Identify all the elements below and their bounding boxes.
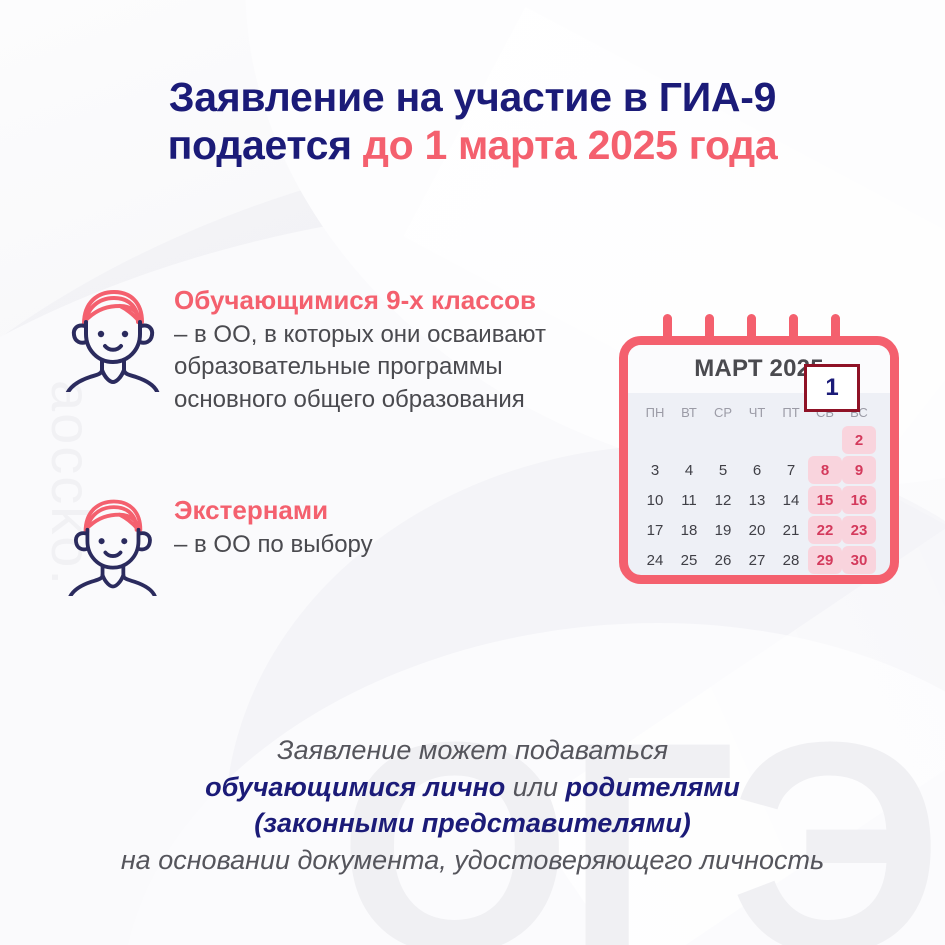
students-body: – в ОО, в которых они осваивают образова… <box>174 319 546 418</box>
footer-line-2-part-a: обучающимися лично <box>205 772 505 802</box>
externs-body-line-1: – в ОО по выбору <box>174 529 373 562</box>
calendar-day-empty <box>842 576 876 584</box>
students-body-line-3: основного общего образования <box>174 384 546 417</box>
calendar-day-26[interactable]: 26 <box>706 546 740 574</box>
calendar-day-empty <box>774 426 808 454</box>
calendar-day-1[interactable]: 1 <box>808 426 842 454</box>
students-heading: Обучающимися 9-х классов <box>174 284 546 317</box>
deadline-day-marker: 1 <box>804 364 860 412</box>
calendar-day-empty <box>706 426 740 454</box>
calendar-day-18[interactable]: 18 <box>672 516 706 544</box>
calendar-day-24[interactable]: 24 <box>638 546 672 574</box>
calendar-day-3[interactable]: 3 <box>638 456 672 484</box>
footer-line-4: на основании документа, удостоверяющего … <box>0 842 945 879</box>
calendar-day-empty <box>672 576 706 584</box>
students-body-line-1: – в ОО, в которых они осваивают <box>174 319 546 352</box>
title-line-2: подается до 1 марта 2025 года <box>0 122 945 170</box>
content-row-students: Обучающимися 9-х классов – в ОО, в котор… <box>64 282 546 417</box>
calendar-day-12[interactable]: 12 <box>706 486 740 514</box>
calendar-day-2[interactable]: 2 <box>842 426 876 454</box>
title-line-1: Заявление на участие в ГИА-9 <box>0 74 945 122</box>
calendar-day-empty <box>774 576 808 584</box>
calendar-day-7[interactable]: 7 <box>774 456 808 484</box>
footer-note: Заявление может подаваться обучающимися … <box>0 732 945 879</box>
student-person-icon <box>64 282 160 392</box>
calendar-weekday-СР: СР <box>706 400 740 424</box>
calendar-day-15[interactable]: 15 <box>808 486 842 514</box>
extern-person-icon <box>64 492 160 596</box>
calendar-day-27[interactable]: 27 <box>740 546 774 574</box>
calendar-week-row: 31 <box>638 575 880 584</box>
calendar-day-29[interactable]: 29 <box>808 546 842 574</box>
calendar-day-11[interactable]: 11 <box>672 486 706 514</box>
students-text-block: Обучающимися 9-х классов – в ОО, в котор… <box>174 282 546 417</box>
footer-line-2-part-c: родителями <box>566 772 740 802</box>
title-line-2-plain: подается <box>168 122 363 168</box>
footer-line-1: Заявление может подаваться <box>0 732 945 769</box>
calendar-week-row: 12 <box>638 425 880 455</box>
students-body-line-2: образовательные программы <box>174 351 546 384</box>
calendar-day-empty <box>808 576 842 584</box>
march-2025-calendar: МАРТ 2025 ПНВТСРЧТПТСБВС1234567891011121… <box>619 336 899 584</box>
calendar-day-13[interactable]: 13 <box>740 486 774 514</box>
calendar-day-28[interactable]: 28 <box>774 546 808 574</box>
calendar-day-30[interactable]: 30 <box>842 546 876 574</box>
footer-line-2-part-b: или <box>505 772 565 802</box>
externs-heading: Экстернами <box>174 494 373 527</box>
calendar-day-23[interactable]: 23 <box>842 516 876 544</box>
title-deadline-accent: до 1 марта 2025 года <box>363 122 778 168</box>
calendar-day-19[interactable]: 19 <box>706 516 740 544</box>
footer-line-3: (законными представителями) <box>0 805 945 842</box>
calendar-grid: ПНВТСРЧТПТСБВС12345678910111213141516171… <box>628 393 890 584</box>
calendar-day-empty <box>740 576 774 584</box>
calendar-day-22[interactable]: 22 <box>808 516 842 544</box>
calendar-weekday-ПН: ПН <box>638 400 672 424</box>
calendar-weekday-ВТ: ВТ <box>672 400 706 424</box>
calendar-day-16[interactable]: 16 <box>842 486 876 514</box>
calendar-day-10[interactable]: 10 <box>638 486 672 514</box>
calendar-week-row: 17181920212223 <box>638 515 880 545</box>
infographic-poster: ОГЭ aoccko. Заявление на участие в ГИА-9… <box>0 0 945 945</box>
calendar-day-21[interactable]: 21 <box>774 516 808 544</box>
calendar-week-row: 3456789 <box>638 455 880 485</box>
calendar-day-20[interactable]: 20 <box>740 516 774 544</box>
calendar-day-14[interactable]: 14 <box>774 486 808 514</box>
calendar-weekday-ЧТ: ЧТ <box>740 400 774 424</box>
calendar-day-empty <box>672 426 706 454</box>
calendar-day-5[interactable]: 5 <box>706 456 740 484</box>
calendar-day-empty <box>638 426 672 454</box>
calendar-week-row: 10111213141516 <box>638 485 880 515</box>
calendar-weekday-ПТ: ПТ <box>774 400 808 424</box>
calendar-day-empty <box>740 426 774 454</box>
calendar-day-empty <box>706 576 740 584</box>
calendar-day-9[interactable]: 9 <box>842 456 876 484</box>
calendar-day-4[interactable]: 4 <box>672 456 706 484</box>
externs-text-block: Экстернами – в ОО по выбору <box>174 492 373 561</box>
calendar-day-25[interactable]: 25 <box>672 546 706 574</box>
calendar-day-17[interactable]: 17 <box>638 516 672 544</box>
calendar-day-6[interactable]: 6 <box>740 456 774 484</box>
footer-line-2: обучающимися лично или родителями <box>0 769 945 806</box>
content-row-externs: Экстернами – в ОО по выбору <box>64 492 373 596</box>
externs-body: – в ОО по выбору <box>174 529 373 562</box>
page-title: Заявление на участие в ГИА-9 подается до… <box>0 74 945 169</box>
calendar-week-row: 24252627282930 <box>638 545 880 575</box>
calendar-day-8[interactable]: 8 <box>808 456 842 484</box>
calendar-day-31[interactable]: 31 <box>638 576 672 584</box>
